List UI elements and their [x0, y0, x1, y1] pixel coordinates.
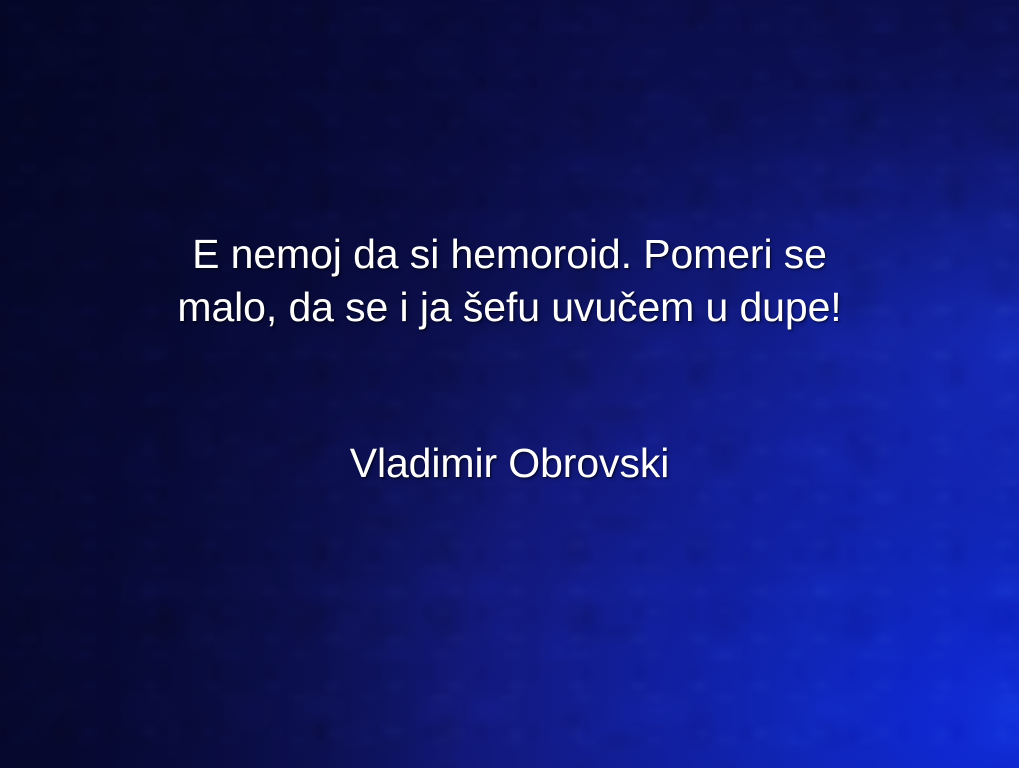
presentation-slide: E nemoj da si hemoroid. Pomeri se malo, … [0, 0, 1019, 768]
author-attribution-block: Vladimir Obrovski [0, 437, 1019, 490]
author-name: Vladimir Obrovski [60, 437, 959, 490]
slide-content: E nemoj da si hemoroid. Pomeri se malo, … [0, 0, 1019, 768]
quote-line-2: malo, da se i ja šefu uvučem u dupe! [60, 281, 959, 334]
quote-line-1: E nemoj da si hemoroid. Pomeri se [60, 228, 959, 281]
quote-text-block: E nemoj da si hemoroid. Pomeri se malo, … [0, 228, 1019, 334]
